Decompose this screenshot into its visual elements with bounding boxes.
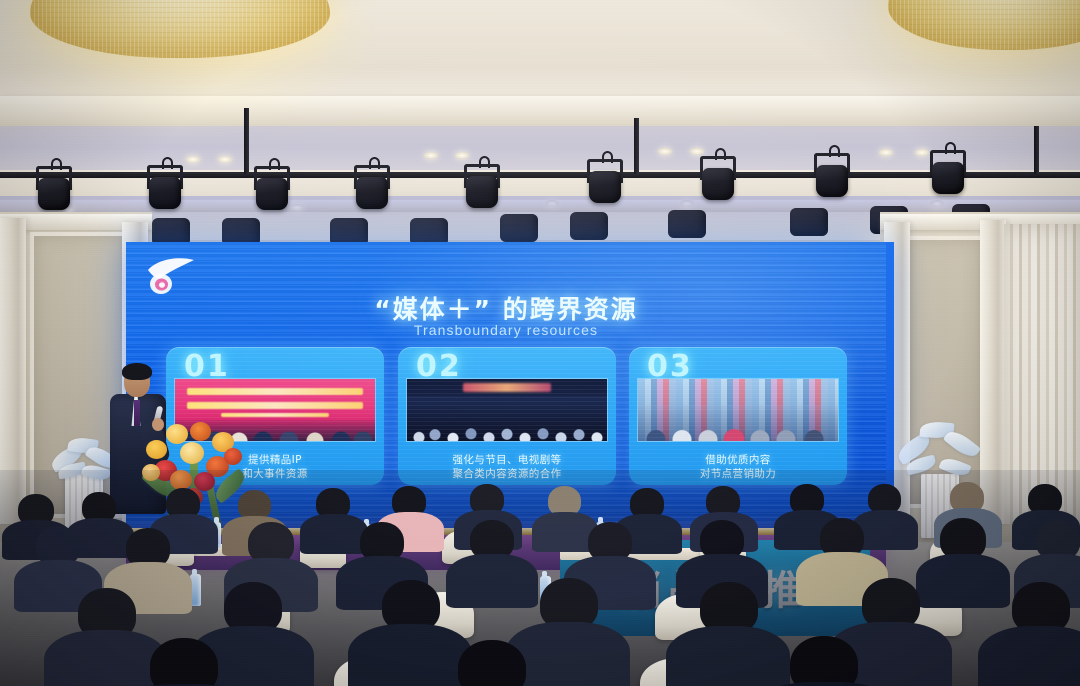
stage-light-par bbox=[34, 166, 74, 212]
thumb-image bbox=[638, 379, 838, 441]
downlight bbox=[290, 204, 304, 211]
downlight bbox=[915, 149, 929, 156]
audience-shoulders bbox=[348, 624, 472, 686]
slide-card-03: 03 借助优质内容 对节点营销助力 bbox=[629, 347, 847, 485]
audience-head bbox=[790, 636, 858, 686]
floral-leaf bbox=[943, 427, 981, 462]
audience-shoulders bbox=[666, 626, 790, 686]
slide-subtitle: Transboundary resources bbox=[126, 322, 886, 338]
presenter-hair bbox=[122, 363, 152, 380]
stage-light-lower bbox=[570, 206, 608, 240]
card-caption-line1: 借助优质内容 bbox=[705, 454, 770, 466]
ceiling-cove-molding bbox=[0, 96, 1080, 126]
stage-light-par bbox=[928, 150, 968, 196]
stage-light-lower bbox=[668, 204, 706, 238]
stage-light-lower bbox=[790, 202, 828, 236]
truss-drop-pipe bbox=[1034, 126, 1039, 174]
stage-light-par bbox=[698, 156, 738, 202]
card-caption-line1: 提供精品IP bbox=[248, 454, 302, 466]
audience-shoulders bbox=[300, 514, 368, 554]
downlight bbox=[186, 156, 200, 163]
thumb-image bbox=[407, 379, 607, 441]
audience-head bbox=[150, 638, 218, 686]
flower-bloom bbox=[190, 422, 211, 441]
stage-light-par bbox=[352, 165, 392, 211]
downlight bbox=[930, 200, 944, 207]
stage-light-lower bbox=[500, 208, 538, 242]
seated-audience bbox=[0, 470, 1080, 686]
stage-light-par bbox=[462, 164, 502, 210]
downlight bbox=[218, 156, 232, 163]
downlight bbox=[658, 148, 672, 155]
downlight bbox=[455, 152, 469, 159]
card-thumbnail-panel-colorful-drapes bbox=[638, 379, 838, 441]
flower-bloom bbox=[166, 424, 188, 444]
stage-light-par bbox=[145, 165, 185, 211]
stage-light-lower bbox=[222, 212, 260, 246]
stage-light-par bbox=[812, 153, 852, 199]
audience-shoulders bbox=[446, 554, 538, 608]
downlight bbox=[690, 148, 704, 155]
downlight bbox=[424, 152, 438, 159]
stage-light-lower bbox=[152, 212, 190, 246]
stage-light-lower bbox=[330, 212, 368, 246]
audience-shoulders bbox=[916, 554, 1010, 608]
slide-card-02: 02 强化与节目、电视剧等 聚合类内容资源的合作 bbox=[398, 347, 616, 485]
card-thumbnail-dark-stage-performance bbox=[407, 379, 607, 441]
downlight bbox=[879, 149, 893, 156]
card-caption-line1: 强化与节目、电视剧等 bbox=[453, 454, 562, 466]
audience-head bbox=[458, 640, 526, 686]
stage-light-par bbox=[585, 159, 625, 205]
stage-light-par bbox=[252, 166, 292, 212]
flower-bloom bbox=[224, 448, 242, 465]
stage-light-lower bbox=[410, 212, 448, 246]
audience-shoulders bbox=[44, 630, 168, 686]
flower-bloom bbox=[180, 442, 204, 464]
truss-drop-pipe bbox=[634, 118, 639, 174]
conference-hall-photo: “媒体＋” 的跨界资源 Transboundary resources 01 提… bbox=[0, 0, 1080, 686]
slide-title: “媒体＋” 的跨界资源 bbox=[126, 290, 886, 326]
audience-shoulders bbox=[978, 626, 1080, 686]
truss-drop-pipe bbox=[244, 108, 249, 174]
downlight bbox=[545, 200, 559, 207]
flower-bloom bbox=[146, 440, 167, 459]
